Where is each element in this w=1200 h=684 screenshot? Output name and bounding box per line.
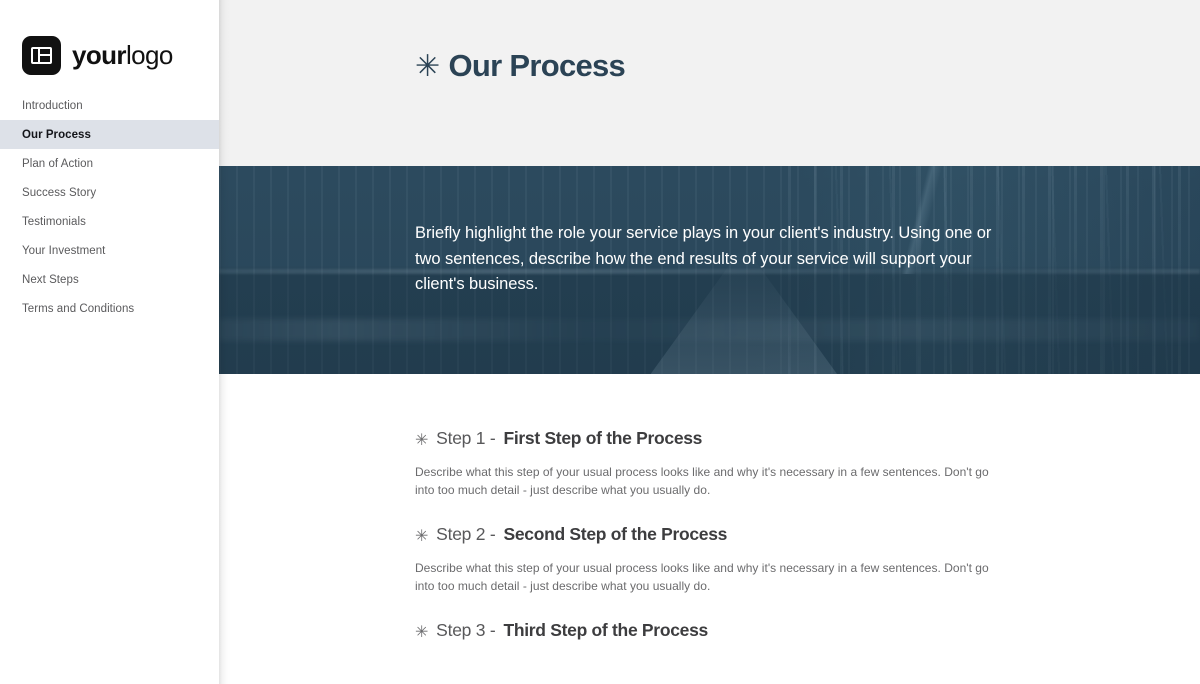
sidebar: yourlogo Introduction Our Process Plan o… — [0, 0, 219, 684]
step-body-1: Describe what this step of your usual pr… — [415, 464, 993, 499]
sidebar-item-terms-and-conditions[interactable]: Terms and Conditions — [0, 294, 219, 323]
step-title: Second Step of the Process — [503, 522, 727, 546]
brand-name: yourlogo — [72, 42, 173, 68]
foreground-band — [219, 319, 1200, 341]
hero-text: Briefly highlight the role your service … — [415, 221, 1000, 298]
asterisk-icon: ✳ — [415, 433, 428, 449]
step-number-label: Step 1 - — [436, 426, 495, 450]
sidebar-item-success-story[interactable]: Success Story — [0, 178, 219, 207]
step-block-3: ✳ Step 3 - Third Step of the Process — [415, 618, 1200, 642]
asterisk-icon: ✳ — [415, 625, 428, 641]
sidebar-item-testimonials[interactable]: Testimonials — [0, 207, 219, 236]
sidebar-item-our-process[interactable]: Our Process — [0, 120, 219, 149]
page-title-text: Our Process — [448, 50, 625, 81]
proposal-page: yourlogo Introduction Our Process Plan o… — [0, 0, 1200, 684]
brand-logo[interactable]: yourlogo — [0, 0, 219, 88]
page-header: ✳ Our Process — [219, 0, 1200, 166]
step-number-label: Step 3 - — [436, 618, 495, 642]
step-number-label: Step 2 - — [436, 522, 495, 546]
step-heading-1: ✳ Step 1 - First Step of the Process — [415, 426, 1200, 450]
sidebar-item-plan-of-action[interactable]: Plan of Action — [0, 149, 219, 178]
layout-block-icon — [22, 36, 61, 75]
brand-name-light: logo — [126, 40, 173, 70]
step-block-2: ✳ Step 2 - Second Step of the Process De… — [415, 522, 1200, 595]
brand-name-bold: your — [72, 40, 126, 70]
step-title: Third Step of the Process — [503, 618, 707, 642]
hero-banner: Briefly highlight the role your service … — [219, 166, 1200, 374]
sidebar-item-introduction[interactable]: Introduction — [0, 91, 219, 120]
layout-block-glyph — [31, 47, 52, 64]
asterisk-icon: ✳ — [415, 529, 428, 545]
step-heading-3: ✳ Step 3 - Third Step of the Process — [415, 618, 1200, 642]
step-body-2: Describe what this step of your usual pr… — [415, 560, 993, 595]
sidebar-nav: Introduction Our Process Plan of Action … — [0, 91, 219, 323]
sidebar-item-next-steps[interactable]: Next Steps — [0, 265, 219, 294]
sidebar-item-your-investment[interactable]: Your Investment — [0, 236, 219, 265]
steps-section: ✳ Step 1 - First Step of the Process Des… — [219, 374, 1200, 642]
step-block-1: ✳ Step 1 - First Step of the Process Des… — [415, 426, 1200, 499]
main-content: ✳ Our Process Briefly highlight the role… — [219, 0, 1200, 684]
step-title: First Step of the Process — [503, 426, 702, 450]
page-title: ✳ Our Process — [415, 50, 625, 81]
asterisk-icon: ✳ — [415, 52, 439, 82]
step-heading-2: ✳ Step 2 - Second Step of the Process — [415, 522, 1200, 546]
